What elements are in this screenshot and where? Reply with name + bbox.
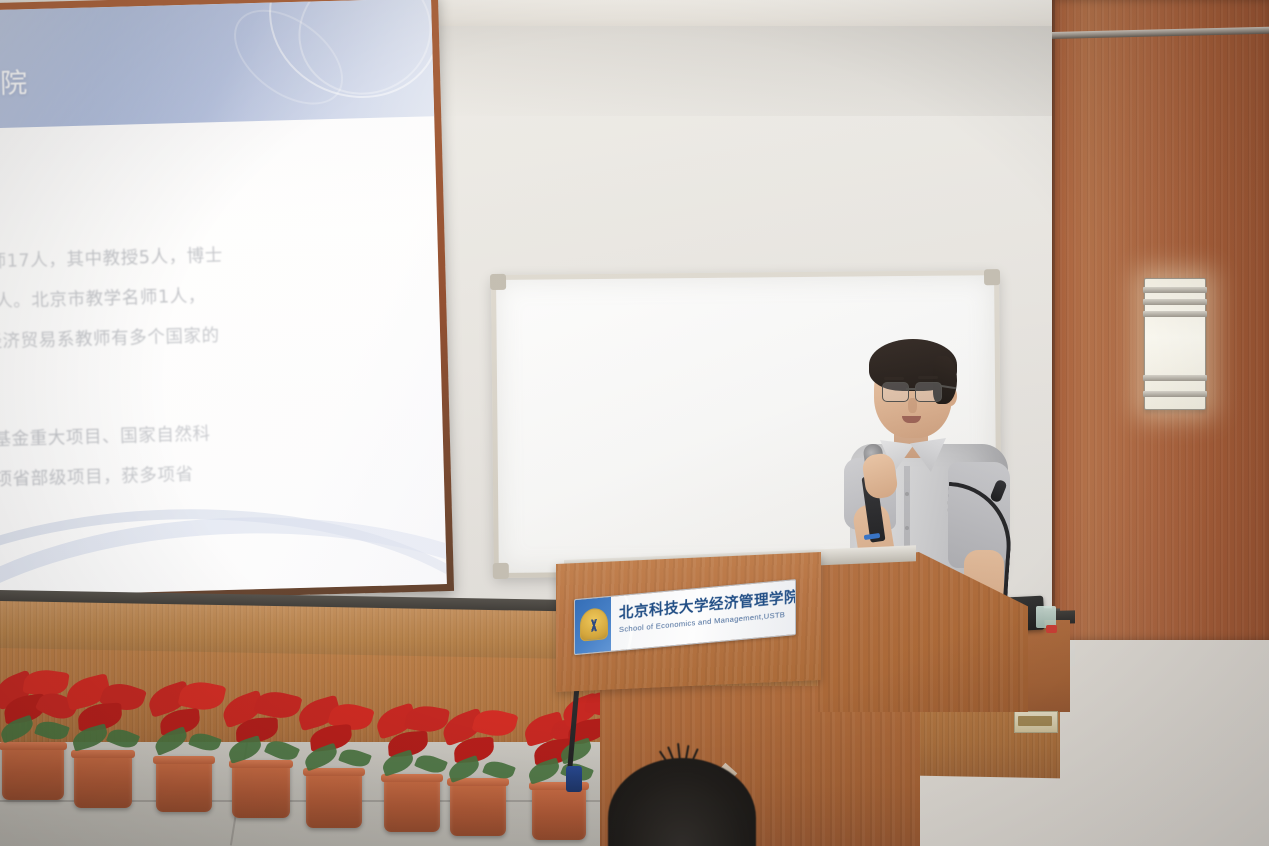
podium-side-panel (818, 552, 1028, 712)
slide-title: 管理学院 (0, 61, 32, 103)
red-object (1046, 625, 1057, 633)
wall-shading (390, 26, 1080, 116)
lecture-hall-photo: 管理学院 简介 贸易系有专职教师17人，其中教授5人，博士 教授7人，讲师5人。… (0, 0, 1269, 846)
slide-paragraph: 优秀人才2人，经济贸易系教师有多个国家的 (0, 322, 220, 357)
eyeglasses-lens (915, 382, 942, 402)
eyeglasses-lens (882, 382, 909, 402)
brass-plate-engraving (1018, 716, 1052, 726)
nameplate-text-block: 北京科技大学经济管理学院 School of Economics and Man… (619, 586, 791, 634)
slide-paragraph: 教授7人，讲师5人。北京市教学名师1人， (0, 282, 206, 316)
slide-body: 简介 贸易系有专职教师17人，其中教授5人，博士 教授7人，讲师5人。北京市教学… (0, 116, 447, 596)
wood-wall-edge (1052, 0, 1055, 640)
speaker-eyebrow (918, 376, 938, 379)
projection-screen: 管理学院 简介 贸易系有专职教师17人，其中教授5人，博士 教授7人，讲师5人。… (0, 0, 447, 597)
slide-paragraph: 学基金项目，多项省部级项目，获多项省 (0, 461, 194, 495)
podium-nameplate: 北京科技大学经济管理学院 School of Economics and Man… (574, 579, 796, 655)
speaker-eyebrow (884, 377, 904, 380)
slide-paragraph: 承担了国家社科基金重大项目、国家自然科 (0, 420, 211, 454)
eyeglasses-bridge (906, 388, 915, 390)
speaker-nose (908, 398, 917, 413)
slide-header-band: 管理学院 (0, 0, 434, 129)
ustb-emblem-icon (580, 607, 608, 642)
slide-paragraph: 贸易系有专职教师17人，其中教授5人，博士 (0, 242, 223, 277)
projection-screen-frame: 管理学院 简介 贸易系有专职教师17人，其中教授5人，博士 教授7人，讲师5人。… (0, 0, 454, 604)
podium-front-panel: 北京科技大学经济管理学院 School of Economics and Man… (556, 552, 821, 692)
wall-sconce-light (1144, 278, 1206, 410)
